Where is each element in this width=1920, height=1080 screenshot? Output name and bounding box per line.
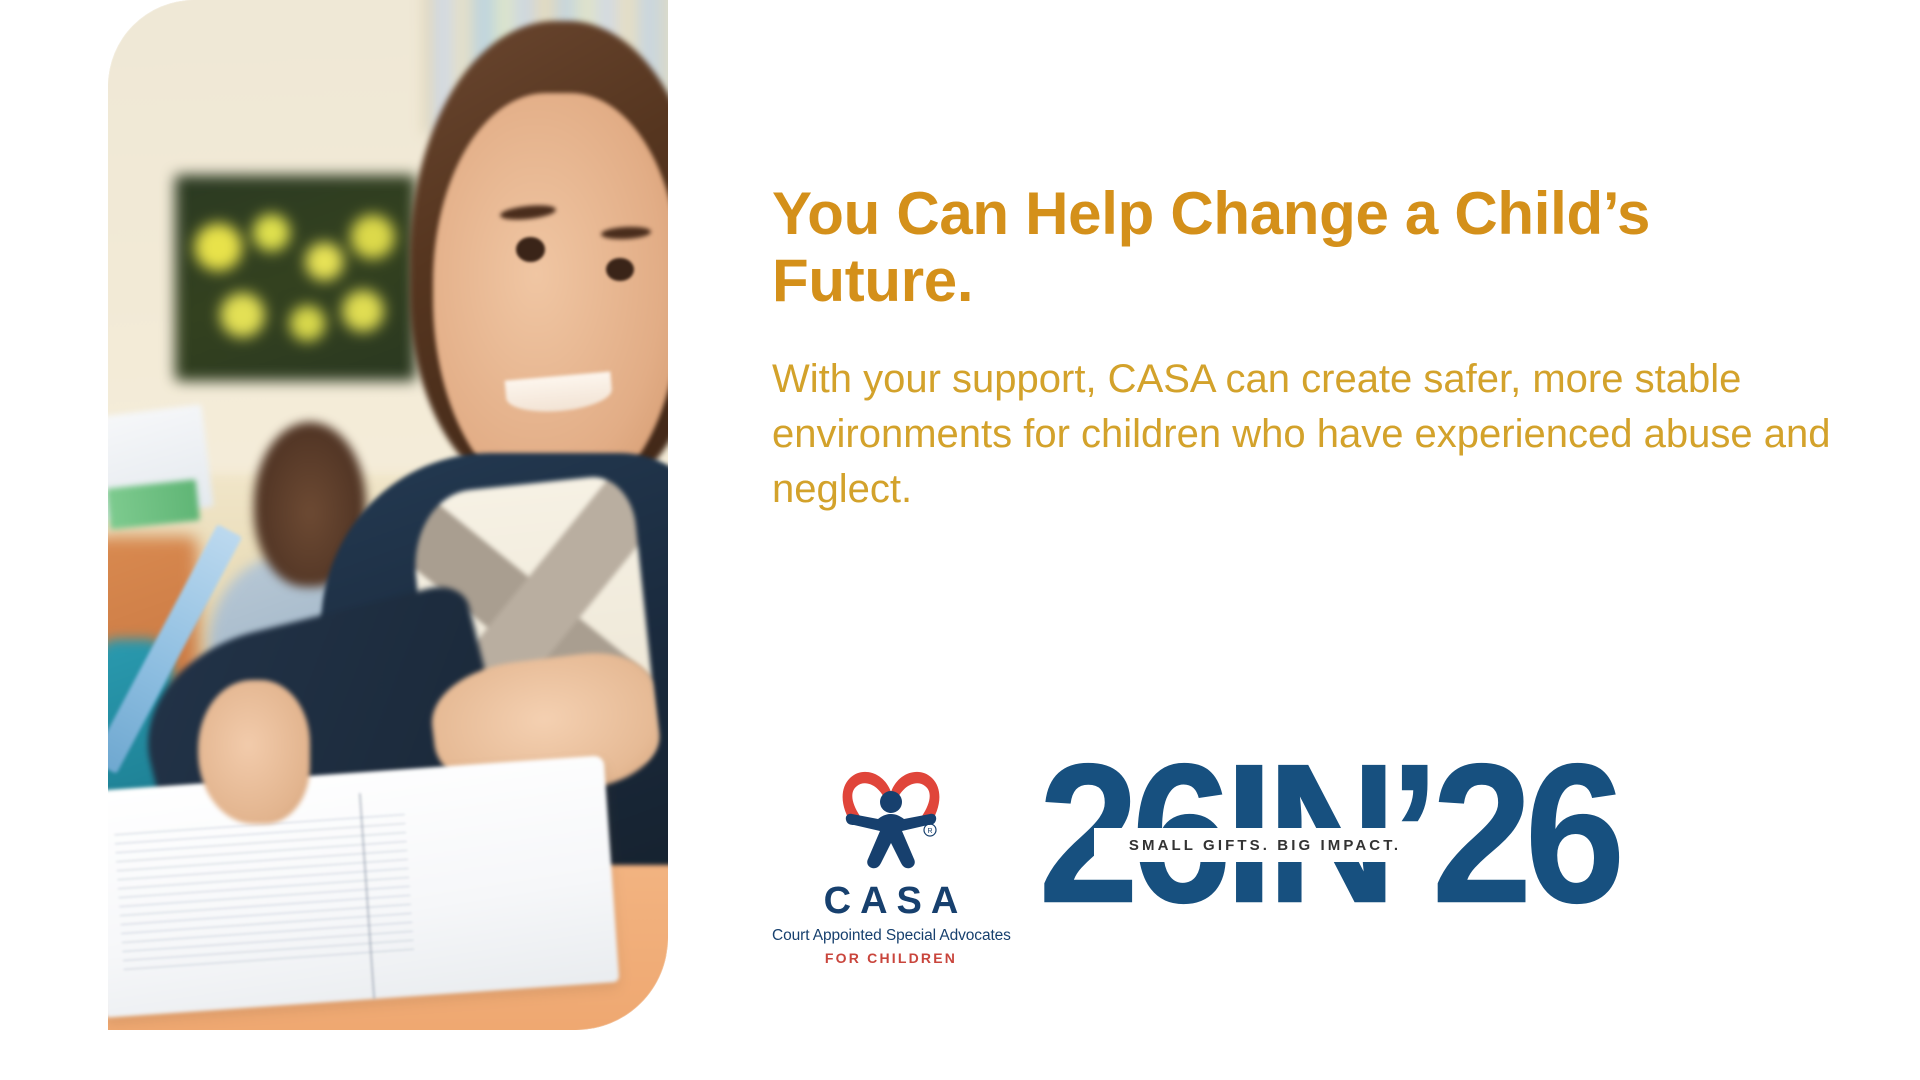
content-column: You Can Help Change a Child’s Future. Wi…	[772, 0, 1832, 1080]
casa-tagline: Court Appointed Special Advocates	[772, 927, 1010, 945]
supporting-text: With your support, CASA can create safer…	[772, 352, 1852, 516]
casa-wordmark: CASA	[781, 882, 1010, 920]
classroom-photo-panel	[108, 0, 668, 1030]
casa-heart-child-icon: R	[826, 758, 956, 876]
campaign-logo[interactable]: 26IN’26 SMALL GIFTS. BIG IMPACT.	[1038, 750, 1486, 946]
campaign-tagline: SMALL GIFTS. BIG IMPACT.	[1129, 837, 1401, 854]
campaign-tagline-band: SMALL GIFTS. BIG IMPACT.	[1094, 828, 1436, 862]
logo-row: R CASA Court Appointed Special Advocates…	[772, 750, 1486, 966]
photo-softening-overlay	[108, 0, 668, 1030]
classroom-photo	[108, 0, 668, 1030]
page-title: You Can Help Change a Child’s Future.	[772, 180, 1792, 314]
casa-subline: FOR CHILDREN	[772, 950, 1010, 966]
promotional-slide: You Can Help Change a Child’s Future. Wi…	[0, 0, 1920, 1080]
svg-text:R: R	[927, 828, 932, 835]
casa-logo[interactable]: R CASA Court Appointed Special Advocates…	[772, 750, 1010, 966]
